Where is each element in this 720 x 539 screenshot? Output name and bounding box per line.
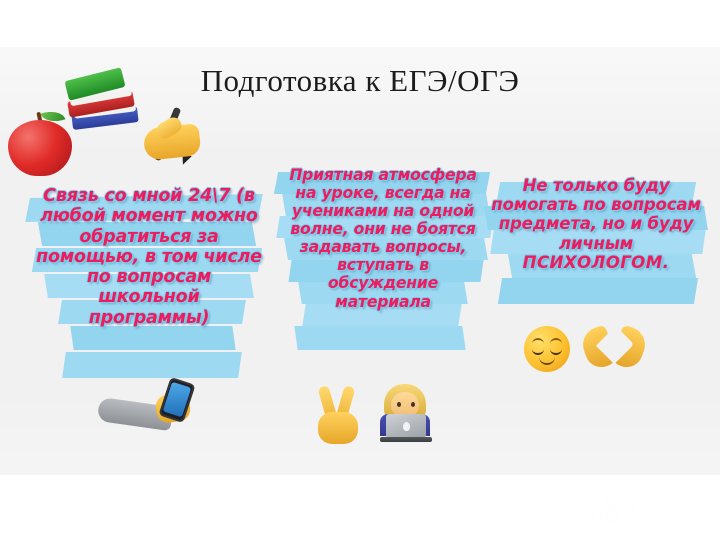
atmosphere-line: на уроке, всегда на (272, 184, 494, 202)
apple-icon (8, 108, 72, 176)
atmosphere-line: задавать вопросы, (272, 238, 494, 256)
poster-canvas: Подготовка к ЕГЭ/ОГЭ Связь со мной 24\7 … (0, 0, 720, 539)
highlight-stroke (62, 352, 242, 378)
availability-line: программы) (18, 308, 280, 328)
psychologist-line: предмета, но и буду (482, 214, 710, 233)
availability-line: школьной (18, 287, 280, 307)
woman-technologist-icon (374, 384, 436, 446)
relieved-face-icon (524, 326, 570, 372)
atmosphere-line: материала (272, 293, 494, 311)
atmosphere-line: Приятная атмосфера (272, 166, 494, 184)
psychologist-line: Не только буду (482, 176, 710, 195)
phone-in-hand-icon (98, 378, 210, 442)
atmosphere-line: вступать в (272, 256, 494, 274)
availability-line: обратиться за (18, 227, 280, 247)
availability-line: любой момент можно (18, 206, 280, 226)
atmosphere-line: учениками на одной (272, 202, 494, 220)
heart-hands-icon (584, 324, 646, 372)
atmosphere-line: обсуждение (272, 274, 494, 292)
atmosphere-block: Приятная атмосфера на уроке, всегда на у… (272, 166, 494, 311)
psychologist-line: помогать по вопросам (482, 195, 710, 214)
psychologist-block: Не только буду помогать по вопросам пред… (482, 176, 710, 272)
highlight-stroke (70, 326, 235, 350)
avito-watermark: Avito (593, 496, 704, 525)
availability-line: Связь со мной 24\7 (в (18, 186, 280, 206)
page-title: Подготовка к ЕГЭ/ОГЭ (0, 63, 720, 99)
availability-line: по вопросам (18, 267, 280, 287)
availability-line: помощью, в том числе (18, 247, 280, 267)
victory-hand-icon (312, 386, 364, 446)
avito-dots-icon (593, 499, 619, 523)
highlight-stroke (294, 326, 465, 350)
highlight-stroke (498, 278, 698, 304)
availability-block: Связь со мной 24\7 (в любой момент можно… (18, 186, 280, 328)
writing-hand-icon (140, 108, 210, 170)
avito-wordmark: Avito (623, 496, 704, 525)
psychologist-line: ПСИХОЛОГОМ. (482, 253, 710, 272)
atmosphere-line: волне, они не боятся (272, 220, 494, 238)
psychologist-line: личным (482, 234, 710, 253)
